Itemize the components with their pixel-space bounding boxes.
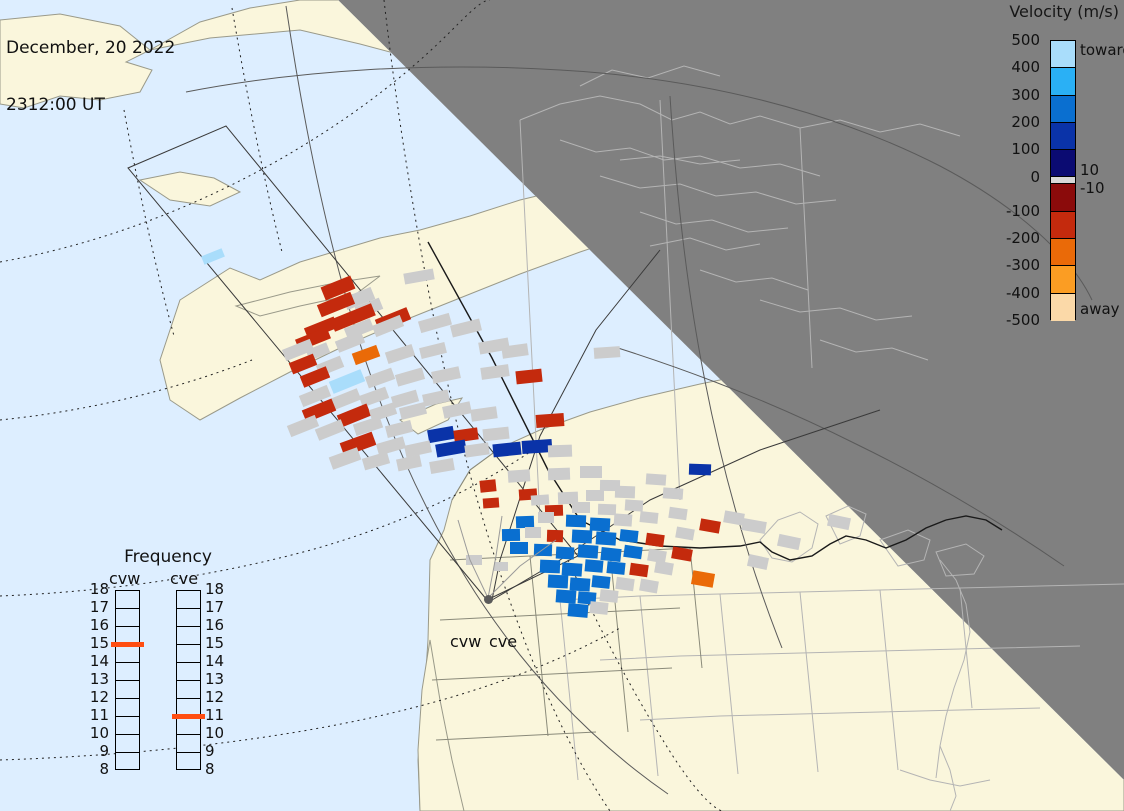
frequency-tick-label: 14	[85, 655, 109, 667]
frequency-marker-cve	[172, 714, 205, 719]
frequency-tick-label: 15	[85, 637, 109, 649]
frequency-cell	[116, 609, 139, 627]
velocity-cell	[567, 603, 588, 618]
ground-scatter-cell	[548, 468, 570, 481]
site-label-cvw: cvw	[450, 632, 481, 651]
velocity-cell	[572, 529, 593, 543]
colorbar-toward-label: toward	[1080, 41, 1124, 59]
frequency-cell	[177, 681, 200, 699]
frequency-cell	[177, 627, 200, 645]
frequency-tick-label: 17	[205, 601, 229, 613]
velocity-cell	[510, 542, 528, 554]
velocity-cell	[516, 516, 534, 529]
velocity-cell	[570, 577, 591, 591]
colorbar-tick-label: 300	[1011, 88, 1040, 102]
ground-scatter-cell	[531, 494, 550, 505]
ground-scatter-cell	[625, 499, 644, 511]
frequency-tick-label: 11	[205, 709, 229, 721]
frequency-cell	[116, 717, 139, 735]
colorbar-negative-threshold-label: -10	[1080, 179, 1105, 197]
ground-scatter-cell	[599, 589, 618, 603]
frequency-tick-label: 11	[85, 709, 109, 721]
frequency-cell	[177, 735, 200, 753]
frequency-marker-cvw	[111, 642, 144, 647]
site-label-cve: cve	[489, 632, 517, 651]
frequency-tick-label: 12	[205, 691, 229, 703]
colorbar-title: Velocity (m/s)	[970, 2, 1119, 21]
frequency-tick-label: 18	[85, 583, 109, 595]
velocity-cell	[522, 439, 553, 454]
frequency-cell	[177, 645, 200, 663]
frequency-tick-label: 16	[85, 619, 109, 631]
colorbar-tick-label: 500	[1011, 33, 1040, 47]
velocity-cell	[689, 464, 711, 476]
velocity-cell	[645, 533, 664, 547]
frequency-tick-label: 12	[85, 691, 109, 703]
velocity-cell	[606, 561, 625, 575]
ground-scatter-cell	[572, 502, 590, 513]
velocity-cell	[556, 547, 575, 560]
colorbar-segment	[1051, 41, 1075, 68]
ground-scatter-cell	[663, 487, 684, 499]
frequency-tick-label: 10	[205, 727, 229, 739]
velocity-cell	[515, 369, 542, 385]
velocity-cell	[548, 574, 569, 588]
frequency-scale-cvw	[115, 590, 140, 770]
frequency-tick-label: 17	[85, 601, 109, 613]
velocity-cell	[479, 479, 496, 493]
ground-scatter-cell	[594, 346, 621, 359]
velocity-cell	[566, 515, 586, 528]
colorbar-tick-label: 200	[1011, 115, 1040, 129]
frequency-cell	[116, 591, 139, 609]
colorbar-segment	[1051, 294, 1075, 321]
ground-scatter-cell	[615, 577, 634, 591]
colorbar-gradient	[1050, 40, 1076, 320]
frequency-cell	[116, 663, 139, 681]
frequency-tick-label: 13	[205, 673, 229, 685]
ground-scatter-cell	[598, 504, 616, 516]
frequency-title: Frequency	[108, 547, 228, 567]
frequency-tick-label: 9	[205, 745, 229, 757]
frequency-cell	[116, 735, 139, 753]
velocity-cell	[540, 560, 560, 574]
colorbar-away-label: away	[1080, 300, 1120, 318]
frequency-tick-label: 16	[205, 619, 229, 631]
ground-scatter-cell	[508, 469, 531, 483]
colorbar-segment	[1051, 123, 1075, 150]
colorbar-segment	[1051, 184, 1075, 211]
velocity-colorbar-panel: Velocity (m/s) 5004003002001000-100-200-…	[970, 0, 1124, 330]
frequency-cell	[177, 717, 200, 735]
frequency-cell	[116, 753, 139, 771]
superdarn-fan-plot: December, 20 2022 2312:00 UT Velocity (m…	[0, 0, 1124, 811]
ground-scatter-cell	[589, 601, 608, 615]
frequency-tick-label: 13	[85, 673, 109, 685]
colorbar-tick-label: -400	[1006, 286, 1040, 300]
colorbar-segment	[1051, 212, 1075, 239]
date-label: December, 20 2022	[6, 39, 175, 58]
frequency-column-label-cvw: cvw	[109, 569, 140, 588]
time-label: 2312:00 UT	[6, 96, 175, 115]
colorbar-tick-label: 0	[1030, 170, 1040, 184]
colorbar-tick-labels: 5004003002001000-100-200-300-400-500	[970, 30, 1042, 330]
frequency-cell	[177, 753, 200, 771]
frequency-tick-label: 9	[85, 745, 109, 757]
ground-scatter-cell	[646, 473, 667, 485]
radar-site-marker	[484, 595, 493, 604]
velocity-cell	[556, 589, 577, 603]
frequency-scale-cve	[176, 590, 201, 770]
velocity-cell	[600, 547, 621, 562]
velocity-cell	[623, 545, 642, 559]
frequency-cell	[116, 681, 139, 699]
frequency-tick-label: 8	[85, 763, 109, 775]
colorbar-segment	[1051, 150, 1075, 177]
colorbar-tick-label: -100	[1006, 204, 1040, 218]
velocity-cell	[483, 497, 500, 508]
velocity-cell	[596, 531, 617, 545]
velocity-cell	[629, 563, 648, 577]
colorbar-tick-label: 400	[1011, 60, 1040, 74]
velocity-cell	[591, 575, 610, 589]
frequency-tick-label: 14	[205, 655, 229, 667]
colorbar-segment	[1051, 177, 1075, 184]
frequency-cell	[177, 609, 200, 627]
colorbar-segment	[1051, 96, 1075, 123]
frequency-cell	[116, 645, 139, 663]
frequency-tick-label: 18	[205, 583, 229, 595]
frequency-tick-label: 8	[205, 763, 229, 775]
ground-scatter-cell	[494, 562, 508, 571]
velocity-cell	[619, 529, 638, 543]
ground-scatter-cell	[600, 480, 620, 491]
colorbar-tick-label: -300	[1006, 258, 1040, 272]
ground-scatter-cell	[466, 555, 482, 565]
frequency-column-label-cve: cve	[170, 569, 198, 588]
timestamp-block: December, 20 2022 2312:00 UT	[6, 1, 175, 153]
velocity-cell	[502, 529, 520, 541]
velocity-cell	[562, 562, 583, 576]
ground-scatter-cell	[580, 466, 602, 478]
colorbar-tick-label: -200	[1006, 231, 1040, 245]
velocity-cell	[590, 517, 611, 531]
frequency-cell	[116, 699, 139, 717]
colorbar-tick-label: -500	[1006, 313, 1040, 327]
ground-scatter-cell	[586, 490, 604, 501]
ground-scatter-cell	[639, 511, 658, 524]
colorbar-positive-threshold-label: 10	[1080, 161, 1099, 179]
frequency-cell	[177, 591, 200, 609]
ground-scatter-cell	[548, 445, 572, 458]
frequency-panel: Frequency cvw cve 18171615141312111098 1…	[85, 545, 250, 785]
ground-scatter-cell	[538, 512, 554, 523]
colorbar-segment	[1051, 266, 1075, 293]
ground-scatter-cell	[614, 513, 633, 526]
frequency-tick-label: 15	[205, 637, 229, 649]
colorbar-tick-label: 100	[1011, 142, 1040, 156]
frequency-cell	[177, 663, 200, 681]
ground-scatter-cell	[525, 527, 541, 538]
velocity-cell	[578, 544, 599, 558]
colorbar-segment	[1051, 239, 1075, 266]
colorbar-segment	[1051, 68, 1075, 95]
velocity-cell	[536, 413, 565, 428]
velocity-cell	[585, 559, 604, 573]
frequency-tick-label: 10	[85, 727, 109, 739]
